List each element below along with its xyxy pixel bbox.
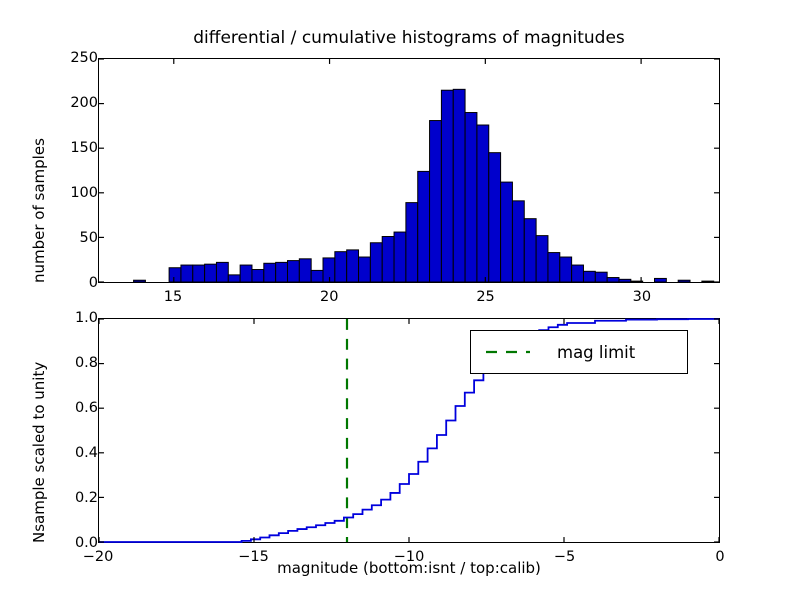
legend: mag limit — [470, 330, 688, 374]
x-tick-label: 30 — [633, 289, 651, 305]
histogram-bar — [382, 237, 394, 282]
histogram-bar — [430, 121, 442, 282]
histogram-bar — [501, 182, 513, 282]
histogram-bar — [335, 252, 347, 282]
figure-canvas: differential / cumulative histograms of … — [0, 0, 800, 600]
histogram-bar — [370, 243, 382, 282]
histogram-bar — [548, 253, 560, 282]
y-tick-label: 250 — [0, 50, 104, 66]
top-y-axis-label: number of samples — [30, 138, 48, 283]
histogram-bar — [607, 278, 619, 282]
histogram-bar — [655, 278, 667, 282]
histogram-bar — [536, 236, 548, 282]
y-tick-label: 0 — [0, 275, 104, 291]
histogram-bar — [169, 268, 181, 282]
histogram-bar — [264, 263, 276, 282]
histogram-bar — [453, 89, 465, 282]
histogram-bar — [406, 203, 418, 282]
histogram-bar — [394, 232, 406, 282]
histogram-bar — [276, 262, 288, 282]
histogram-bar — [702, 281, 714, 282]
x-tick-label: 25 — [476, 289, 494, 305]
y-tick-label: 0.0 — [0, 535, 104, 551]
histogram-bar — [193, 265, 205, 282]
histogram-bar — [477, 125, 489, 282]
histogram-bar — [560, 257, 572, 282]
histogram-bar — [595, 272, 607, 282]
histogram-bar — [418, 171, 430, 282]
histogram-bar — [134, 280, 146, 282]
histogram-bar — [228, 275, 240, 282]
histogram-bar — [311, 270, 323, 282]
dashed-line-icon — [485, 345, 531, 359]
histogram-bar — [205, 264, 217, 282]
x-axis-label: magnitude (bottom:isnt / top:calib) — [98, 559, 720, 577]
histogram-bar — [512, 201, 524, 282]
histogram-bar — [240, 265, 252, 282]
legend-entry-label: mag limit — [557, 343, 635, 362]
bottom-y-axis-label: Nsample scaled to unity — [30, 362, 48, 543]
page-title: differential / cumulative histograms of … — [98, 28, 720, 48]
histogram-bar — [489, 153, 501, 282]
histogram-bar — [441, 90, 453, 282]
histogram-bar — [216, 262, 228, 282]
histogram-bar — [583, 271, 595, 282]
histogram-bar — [465, 113, 477, 282]
y-tick-label: 1.0 — [0, 310, 104, 326]
bottom-cumulative-axes: mag limit — [98, 318, 720, 543]
histogram-bar — [299, 259, 311, 282]
x-tick-label: 15 — [164, 289, 182, 305]
histogram-bar — [181, 265, 193, 282]
x-tick-label: 20 — [320, 289, 338, 305]
histogram-bar — [524, 219, 536, 282]
histogram-bar — [572, 265, 584, 282]
histogram-bar — [252, 270, 264, 282]
y-tick-label: 200 — [0, 95, 104, 111]
histogram-bar — [347, 250, 359, 282]
top-histogram-axes — [98, 58, 720, 283]
y-tick-label: 150 — [0, 140, 104, 156]
y-tick-label: 0.8 — [0, 355, 104, 371]
histogram-bar — [619, 279, 631, 282]
histogram-bar — [323, 258, 335, 282]
histogram-bar — [287, 261, 299, 282]
y-tick-label: 0.4 — [0, 445, 104, 461]
y-tick-label: 0.6 — [0, 400, 104, 416]
histogram-bar — [678, 280, 690, 282]
y-tick-label: 100 — [0, 185, 104, 201]
histogram-bar — [359, 257, 371, 282]
differential-histogram-plot — [99, 59, 719, 282]
y-tick-label: 0.2 — [0, 490, 104, 506]
y-tick-label: 50 — [0, 230, 104, 246]
